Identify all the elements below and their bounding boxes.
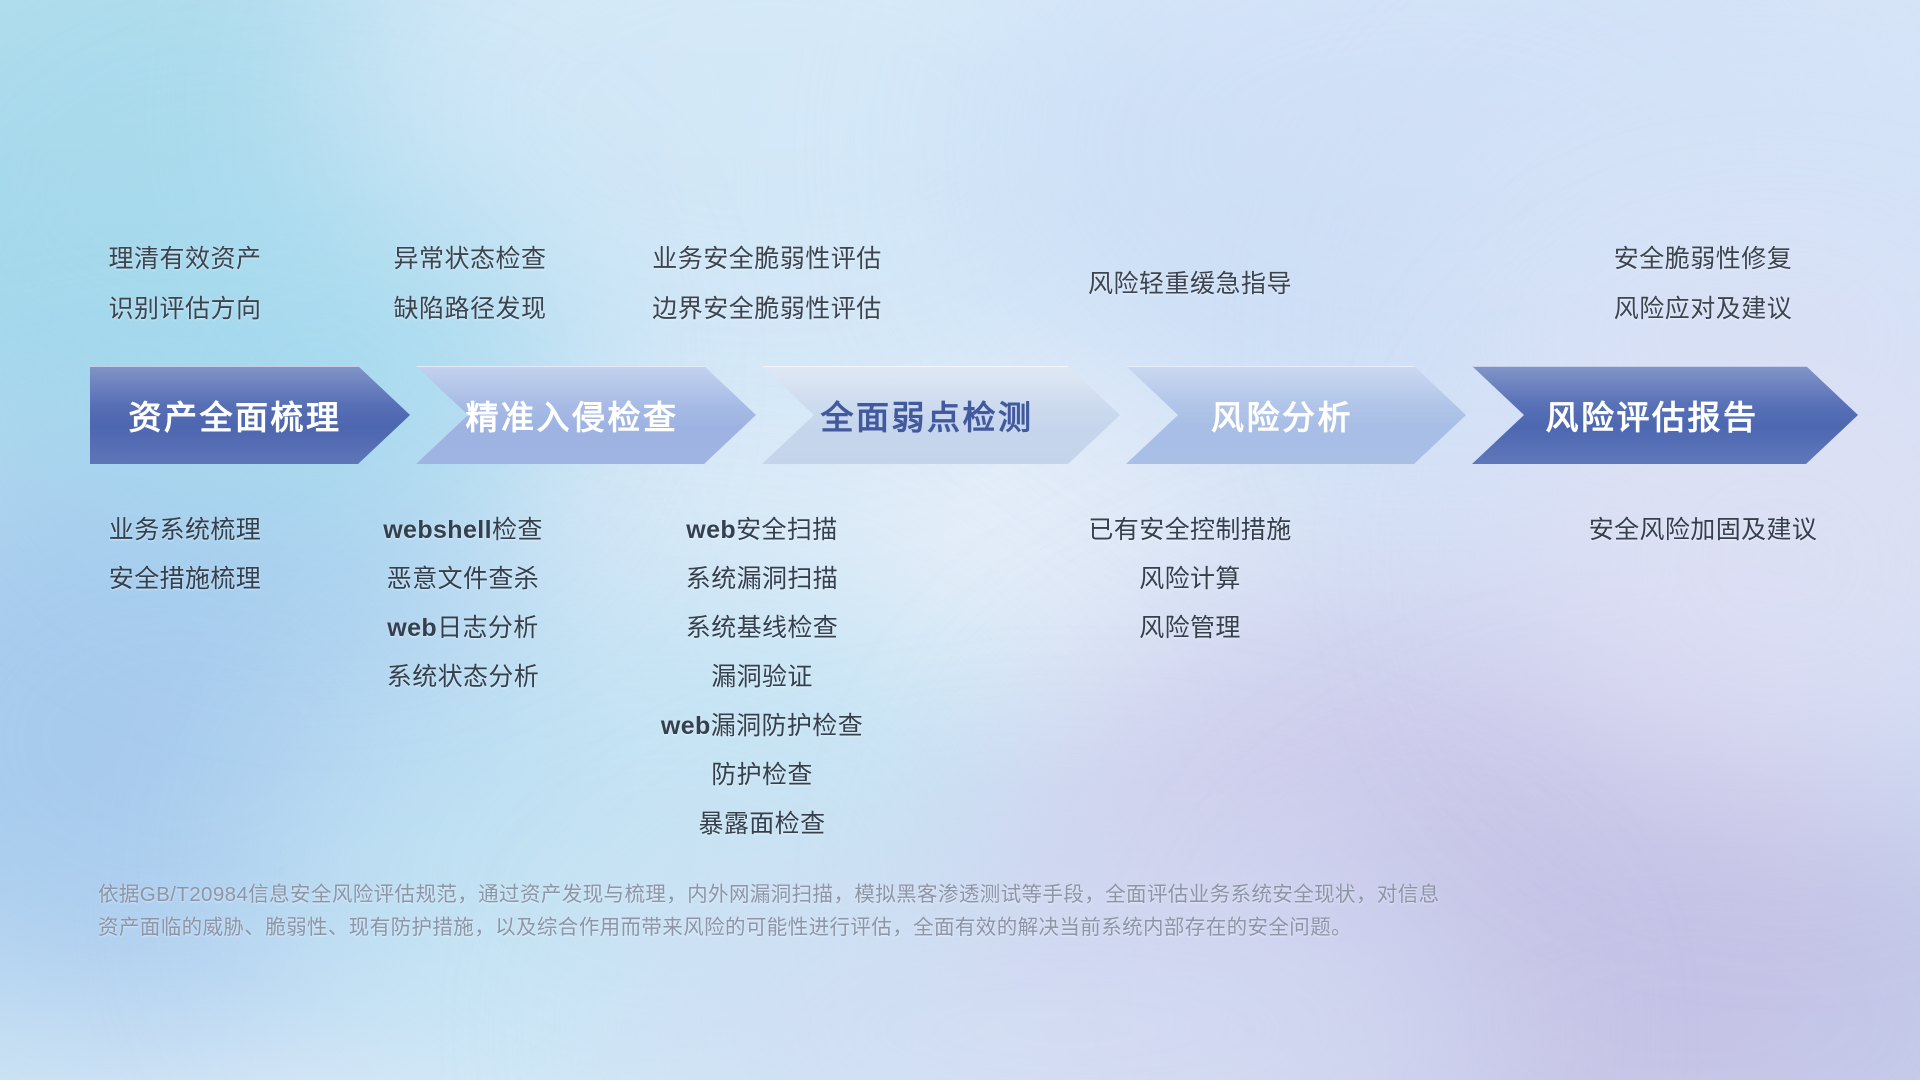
stage-3-output-4: 漏洞验证 [637,653,887,702]
stage-1-input-2: 识别评估方向 [60,284,310,334]
stage-2-outputs: webshell检查恶意文件查杀web日志分析系统状态分析 [338,506,588,702]
stage-4-outputs: 已有安全控制措施风险计算风险管理 [1065,506,1315,653]
stage-5-output-1: 安全风险加固及建议 [1578,506,1828,555]
stage-3-input-1: 业务安全脆弱性评估 [642,234,892,284]
stage-chevron-1[interactable]: 资产全面梳理 [90,366,410,464]
stage-chevron-4[interactable]: 风险分析 [1126,366,1466,464]
stage-4-inputs: 风险轻重缓急指导 [1065,259,1315,309]
footer-description: 依据GB/T20984信息安全风险评估规范，通过资产发现与梳理，内外网漏洞扫描，… [98,878,1578,944]
stage-3-output-2: 系统漏洞扫描 [637,555,887,604]
stage-2-output-3: web日志分析 [338,604,588,653]
stage-4-output-1: 已有安全控制措施 [1065,506,1315,555]
stage-2-label: 精准入侵检查 [466,391,679,439]
stage-3-input-2: 边界安全脆弱性评估 [642,284,892,334]
stage-1-output-1: 业务系统梳理 [60,506,310,555]
stage-3-outputs: web安全扫描系统漏洞扫描系统基线检查漏洞验证web漏洞防护检查防护检查暴露面检… [637,506,887,849]
stage-5-input-1: 安全脆弱性修复 [1578,234,1828,284]
stage-3-output-1: web安全扫描 [637,506,887,555]
stage-5-inputs: 安全脆弱性修复风险应对及建议 [1578,234,1828,334]
stage-2-output-4: 系统状态分析 [338,653,588,702]
stage-5-input-2: 风险应对及建议 [1578,284,1828,334]
process-chevron-band: 资产全面梳理 精准入侵检查 全面弱点检测 风险分析 风险评估报告 [0,366,1920,464]
stage-2-output-2: 恶意文件查杀 [338,555,588,604]
stage-1-label: 资产全面梳理 [129,391,342,439]
stage-3-label: 全面弱点检测 [821,391,1034,439]
stage-4-output-3: 风险管理 [1065,604,1315,653]
stage-3-output-3: 系统基线检查 [637,604,887,653]
stage-2-input-1: 异常状态检查 [345,234,595,284]
stage-chevron-5[interactable]: 风险评估报告 [1472,366,1858,464]
footer-line-1: 依据GB/T20984信息安全风险评估规范，通过资产发现与梳理，内外网漏洞扫描，… [98,878,1578,911]
stage-4-label: 风险分析 [1211,391,1353,439]
stage-1-input-1: 理清有效资产 [60,234,310,284]
footer-line-2: 资产面临的威胁、脆弱性、现有防护措施，以及综合作用而带来风险的可能性进行评估，全… [98,911,1578,944]
stage-1-output-2: 安全措施梳理 [60,555,310,604]
stage-2-input-2: 缺陷路径发现 [345,284,595,334]
stage-5-outputs: 安全风险加固及建议 [1578,506,1828,555]
stage-4-output-2: 风险计算 [1065,555,1315,604]
stage-3-inputs: 业务安全脆弱性评估边界安全脆弱性评估 [642,234,892,334]
stage-3-output-5: web漏洞防护检查 [637,702,887,751]
stage-3-output-6: 防护检查 [637,751,887,800]
stage-chevron-3[interactable]: 全面弱点检测 [762,366,1120,464]
stage-1-outputs: 业务系统梳理安全措施梳理 [60,506,310,604]
stage-chevron-2[interactable]: 精准入侵检查 [416,366,756,464]
stage-2-output-1: webshell检查 [338,506,588,555]
stage-4-input-1: 风险轻重缓急指导 [1065,259,1315,309]
stage-3-output-7: 暴露面检查 [637,800,887,849]
stage-2-inputs: 异常状态检查缺陷路径发现 [345,234,595,334]
stage-5-label: 风险评估报告 [1546,391,1759,439]
stage-1-inputs: 理清有效资产识别评估方向 [60,234,310,334]
